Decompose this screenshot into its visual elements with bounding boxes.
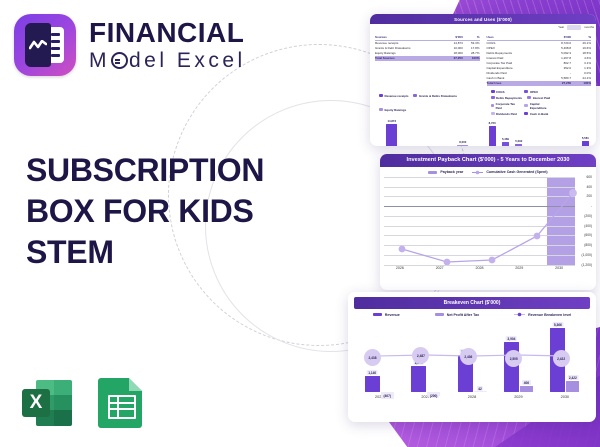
file-format-icons: X [22,378,142,428]
payback-y-axis: 600 400 200 - (200) (400) (600) (800) (1… [575,177,592,265]
uses-bar-chart[interactable]: 8,720 5,469 5,092 1,268 803 352 - 5,581 [487,116,592,146]
sources-table-col: Sources $'000 % Revenue receipts14,87353… [375,35,480,86]
panel-sources-and-uses[interactable]: Sources and Uses ($'000) Year months Sou… [370,14,596,146]
toolbar-unit-label: months [584,25,594,29]
sources-bar-chart[interactable]: 14,873 5,000 8,000 [375,116,480,146]
table-total-row: Total Uses27,250100% [487,81,592,86]
breakeven-plot-area[interactable]: 1,140 (467) 2,438 1,848 (200) 2,487 [356,320,588,392]
x-tick: 2030 [542,395,588,399]
breakeven-bubble: 2,422 [553,350,570,367]
sources-uses-toolbar[interactable]: Year months [370,25,594,29]
x-tick: 2028 [460,266,500,270]
x-tick: 2026 [380,266,420,270]
bar-npat: (467) [381,392,394,399]
brand-logo: FINANCIAL M del Excel [14,14,246,76]
excel-letter: X [22,389,50,417]
payback-line-series [384,177,583,265]
brand-name-line2: M del Excel [89,50,246,71]
uses-chart-legend: COGS OPEX Debts Repayments Interest Paid… [487,88,592,116]
bar [515,144,522,146]
chart-wave-icon [29,40,47,51]
legend-item-revenue: Revenue [373,313,400,317]
sources-uses-charts: 14,873 5,000 8,000 8,720 5,469 5,092 1,2… [370,116,596,146]
legend-item-npat: Net Profit After Tax [435,313,479,317]
payback-legend: Payback year Cumulative Cash Generated (… [380,167,596,177]
sources-uses-title: Sources and Uses ($'000) [370,14,596,24]
table-total-row: Total Sources27,250100% [375,56,480,61]
line-marker-icon [514,312,525,317]
legend-item-cumulative-cash: Cumulative Cash Generated (Spent) [472,170,547,175]
financial-model-logo-icon [14,14,76,76]
toolbar-year-select[interactable] [567,25,581,29]
x-tick: 2029 [499,266,539,270]
poster-canvas: FINANCIAL M del Excel SUBSCRIPTION BOX F… [0,0,600,447]
breakeven-legend: Revenue Net Profit After Tax Revenue Bre… [348,309,596,320]
excel-icon[interactable]: X [22,378,72,428]
brand-name-line1: FINANCIAL [89,19,246,47]
sources-chart-legend: Revenue receipts Grants & Debts Drawdown… [375,88,480,116]
x-tick: 2027 [402,395,448,399]
payback-title: Investment Payback Chart ($'000) - 5 Yea… [380,154,596,167]
breakeven-bubble: 2,436 [460,348,477,365]
x-tick: 2029 [495,395,541,399]
page-title: SUBSCRIPTION BOX FOR KIDS STEM [26,150,316,273]
brand-line2-suffix: del Excel [129,50,246,71]
x-tick: 2026 [356,395,402,399]
panel-investment-payback[interactable]: Investment Payback Chart ($'000) - 5 Yea… [380,154,596,290]
panel-breakeven[interactable]: Breakeven Chart ($'000) Revenue Net Prof… [348,292,596,422]
uses-table-col: Uses $'000 % COGS8,720.029.1% OPEX5,468.… [487,35,592,86]
payback-x-axis: 2026 2027 2028 2029 2030 [380,266,579,270]
bar [386,124,397,146]
bar [489,126,496,146]
toolbar-year-label: Year [558,25,564,29]
breakeven-title: Breakeven Chart ($'000) [354,297,590,309]
bar [502,142,509,146]
x-tick: 2028 [449,395,495,399]
brand-line2-prefix: M [89,50,110,71]
legend-item-breakeven-level: Revenue Breakeven level [514,312,571,317]
bar-npat: (200) [427,392,440,396]
google-sheets-icon[interactable] [98,378,142,428]
lightbulb-icon [111,52,128,69]
payback-plot-area[interactable]: 600 400 200 - (200) (400) (600) (800) (1… [384,177,592,265]
uses-table: Uses $'000 % COGS8,720.029.1% OPEX5,468.… [487,35,592,86]
sources-table: Sources $'000 % Revenue receipts14,87353… [375,35,480,61]
breakeven-bubble: 2,438 [364,349,381,366]
legend-item-payback-year: Payback year [428,170,463,174]
bar [457,145,468,146]
x-tick: 2027 [420,266,460,270]
line-marker-icon [472,170,483,175]
bar [582,141,589,146]
x-tick: 2030 [539,266,579,270]
